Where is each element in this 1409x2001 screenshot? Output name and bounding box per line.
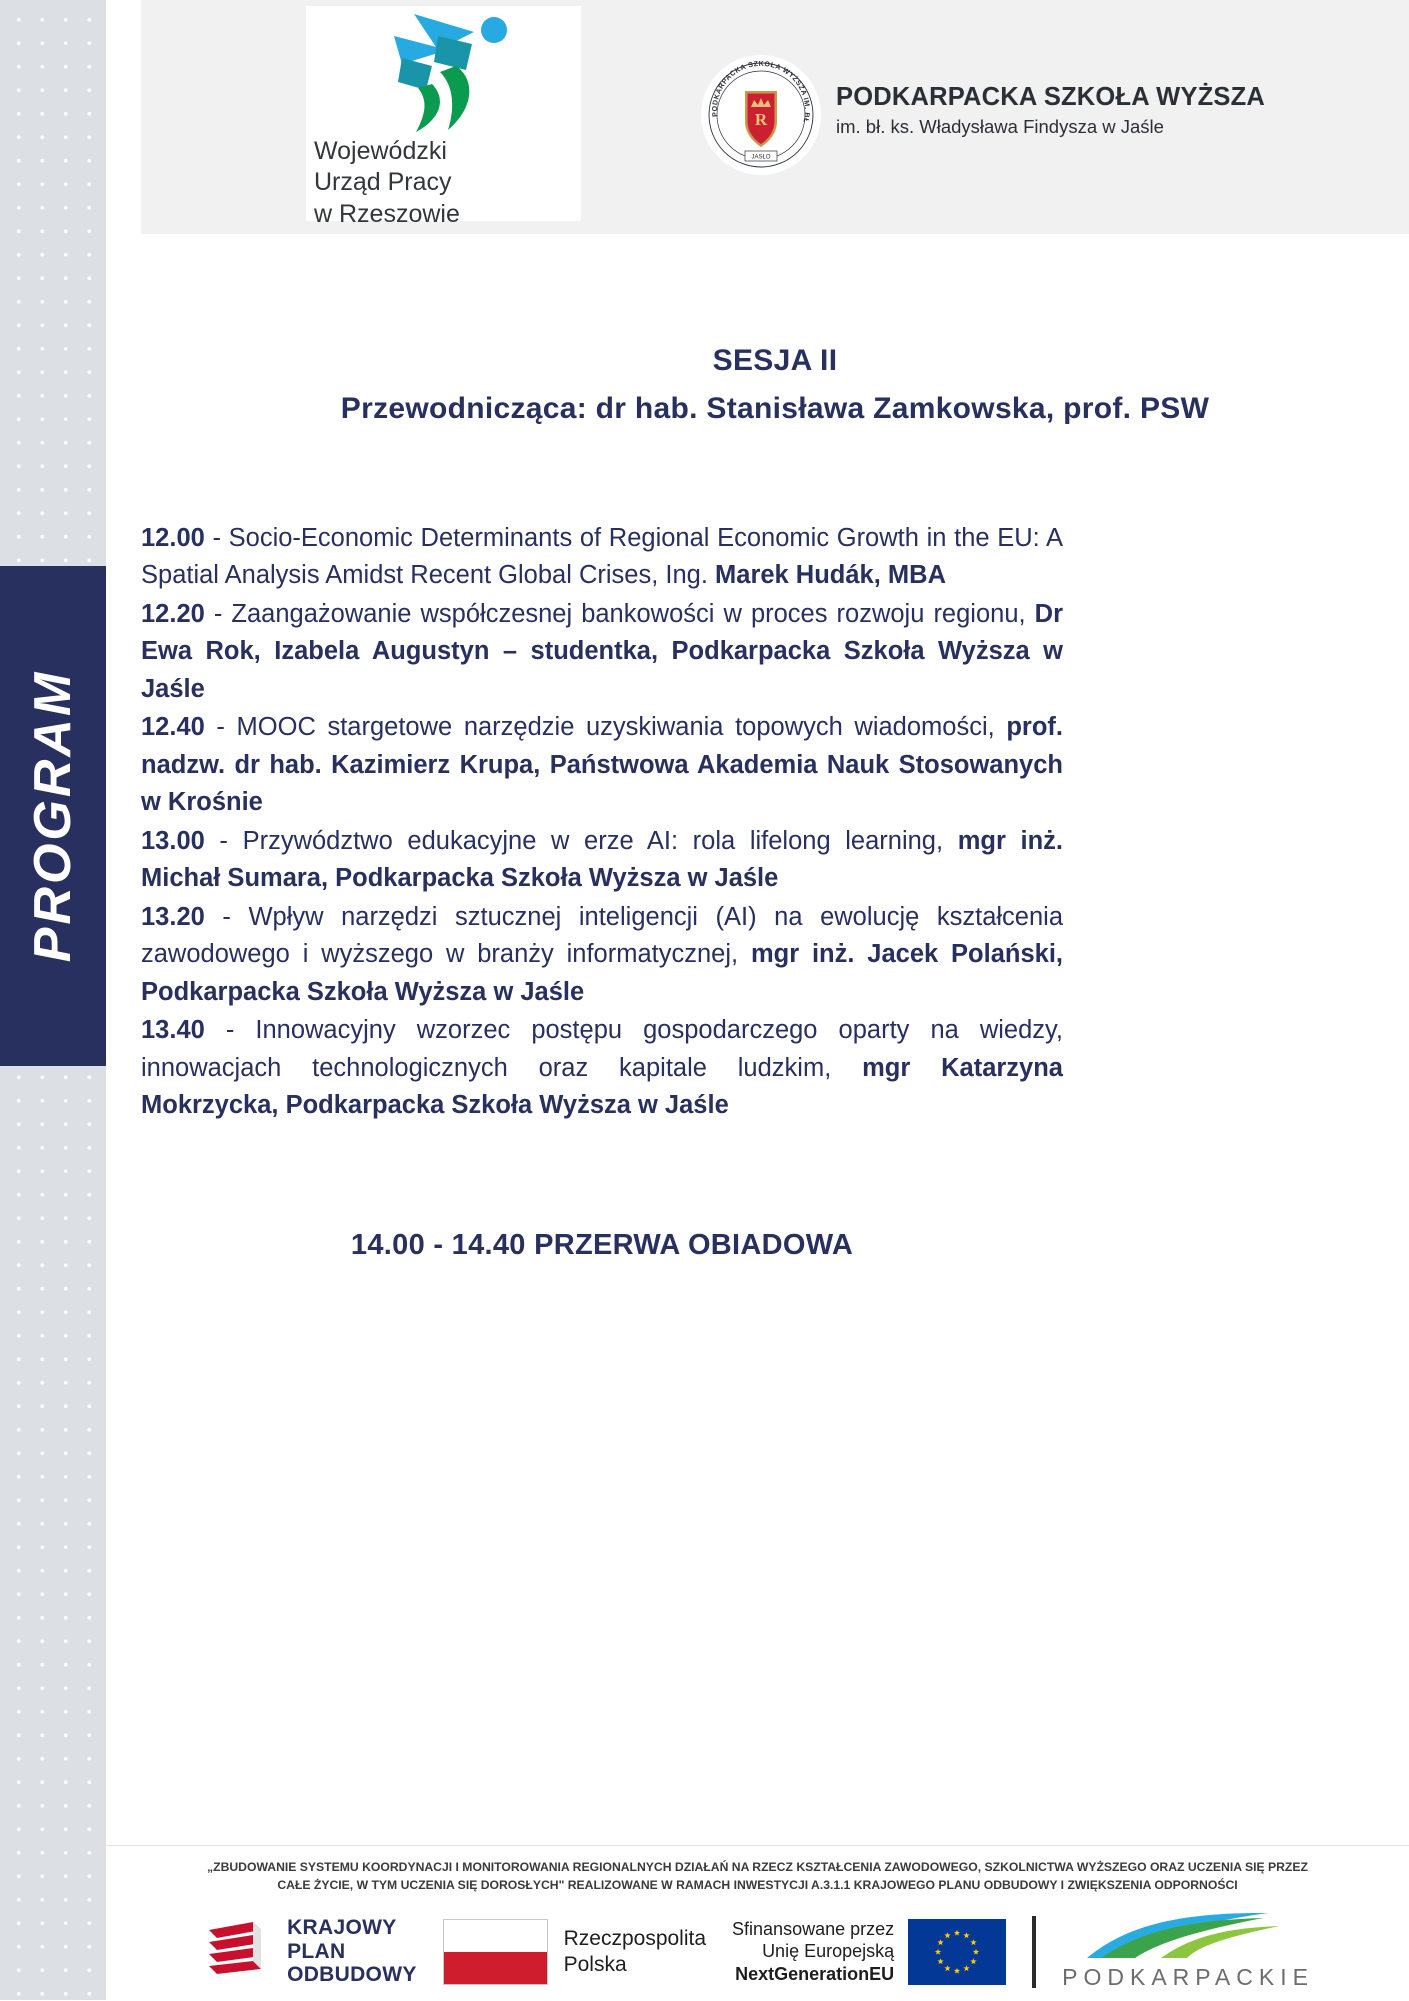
agenda-dash: -	[205, 827, 243, 855]
footer-divider	[1032, 1916, 1036, 1988]
agenda-time: 13.00	[141, 827, 205, 855]
disclaimer-line-1: „ZBUDOWANIE SYSTEMU KOORDYNACJI I MONITO…	[116, 1858, 1399, 1876]
psw-logo-text: PODKARPACKA SZKOŁA WYŻSZA im. bł. ks. Wł…	[836, 83, 1256, 138]
disclaimer-line-2: CAŁE ŻYCIE, W TYM UCZENIA SIĘ DOROSŁYCH"…	[116, 1876, 1399, 1894]
podkarpackie-logo: PODKARPACKIE	[1062, 1912, 1314, 1991]
psw-title: PODKARPACKA SZKOŁA WYŻSZA	[836, 83, 1256, 112]
agenda-entry: 13.20 - Wpływ narzędzi sztucznej intelig…	[141, 899, 1063, 1011]
program-band-label: PROGRAM	[23, 670, 83, 963]
main-content: SESJA II Przewodnicząca: dr hab. Stanisł…	[141, 234, 1409, 1844]
psw-seal-icon: PODKARPACKA SZKOŁA WYŻSZA IM. BŁ. KS. WŁ…	[701, 55, 821, 175]
session-title: SESJA II	[141, 344, 1409, 378]
header-logo-bar: Wojewódzki Urząd Pracy w Rzeszowie PODKA…	[141, 0, 1409, 234]
agenda-dash: -	[205, 903, 249, 931]
wup-emblem-icon	[306, 6, 581, 136]
wup-logo-text: Wojewódzki Urząd Pracy w Rzeszowie	[314, 136, 581, 230]
podkarpackie-label: PODKARPACKIE	[1062, 1964, 1314, 1991]
kpo-line-2: PLAN	[287, 1940, 417, 1964]
agenda-entry: 12.40 - MOOC stargetowe narzędzie uzyski…	[141, 709, 1063, 821]
agenda-list: 12.00 - Socio-Economic Determinants of R…	[141, 520, 1063, 1126]
krajowy-plan-odbudowy-logo: KRAJOWY PLAN ODBUDOWY	[201, 1916, 417, 1988]
eu-line-3: NextGenerationEU	[732, 1963, 894, 1986]
agenda-speaker: Marek Hudák, MBA	[715, 561, 946, 589]
kpo-emblem-icon	[201, 1916, 273, 1988]
footer-disclaimer: „ZBUDOWANIE SYSTEMU KOORDYNACJI I MONITO…	[106, 1858, 1409, 1895]
agenda-time: 12.40	[141, 713, 205, 741]
agenda-entry: 12.20 - Zaangażowanie współczesnej banko…	[141, 596, 1063, 708]
agenda-time: 13.20	[141, 903, 205, 931]
agenda-time: 12.20	[141, 600, 205, 628]
agenda-entry: 12.00 - Socio-Economic Determinants of R…	[141, 520, 1063, 595]
agenda-topic: Zaangażowanie współczesnej bankowości w …	[231, 600, 1034, 628]
agenda-entry: 13.00 - Przywództwo edukacyjne w erze AI…	[141, 823, 1063, 898]
eu-text: Sfinansowane przez Unię Europejską NextG…	[732, 1918, 894, 1986]
podkarpackie-emblem-icon	[1083, 1912, 1293, 1962]
eu-line-2: Unię Europejską	[732, 1940, 894, 1963]
kpo-line-1: KRAJOWY	[287, 1916, 417, 1940]
rp-text: Rzeczpospolita Polska	[564, 1926, 706, 1976]
psw-logo-group: PODKARPACKA SZKOŁA WYŻSZA IM. BŁ. KS. WŁ…	[701, 55, 1261, 175]
psw-subtitle: im. bł. ks. Władysława Findysza w Jaśle	[836, 116, 1256, 138]
agenda-dash: -	[205, 713, 237, 741]
kpo-text: KRAJOWY PLAN ODBUDOWY	[287, 1916, 417, 1987]
session-chair: Przewodnicząca: dr hab. Stanisława Zamko…	[141, 392, 1409, 426]
wup-line-2: Urząd Pracy	[314, 167, 581, 198]
wup-line-3: w Rzeszowie	[314, 199, 581, 230]
wup-line-1: Wojewódzki	[314, 136, 581, 167]
agenda-dash: -	[205, 524, 229, 552]
seal-city-label: JASŁO	[751, 155, 770, 161]
eu-line-1: Sfinansowane przez	[732, 1918, 894, 1941]
footer: „ZBUDOWANIE SYSTEMU KOORDYNACJI I MONITO…	[106, 1845, 1409, 2001]
european-union-funding-logo: Sfinansowane przez Unię Europejską NextG…	[732, 1918, 1006, 1986]
agenda-time: 12.00	[141, 524, 205, 552]
footer-logo-row: KRAJOWY PLAN ODBUDOWY Rzeczpospolita Pol…	[106, 1904, 1409, 1999]
agenda-topic: MOOC stargetowe narzędzie uzyskiwania to…	[237, 713, 1007, 741]
eu-flag-icon	[908, 1919, 1006, 1985]
rzeczpospolita-polska-logo: Rzeczpospolita Polska	[443, 1919, 706, 1985]
agenda-topic: Przywództwo edukacyjne w erze AI: rola l…	[243, 827, 958, 855]
session-heading: SESJA II Przewodnicząca: dr hab. Stanisł…	[141, 344, 1409, 426]
polish-flag-icon	[443, 1919, 548, 1985]
agenda-dash: -	[205, 600, 232, 628]
program-vertical-band: PROGRAM	[0, 566, 106, 1066]
agenda-dash: -	[205, 1016, 256, 1044]
wojewodzki-urzad-pracy-logo: Wojewódzki Urząd Pracy w Rzeszowie	[306, 6, 581, 221]
rp-line-1: Rzeczpospolita	[564, 1926, 706, 1951]
rp-line-2: Polska	[564, 1952, 706, 1977]
agenda-entry: 13.40 - Innowacyjny wzorzec postępu gosp…	[141, 1012, 1063, 1124]
svg-text:R: R	[755, 110, 768, 129]
lunch-break-note: 14.00 - 14.40 PRZERWA OBIADOWA	[141, 1229, 1063, 1262]
kpo-line-3: ODBUDOWY	[287, 1963, 417, 1987]
agenda-time: 13.40	[141, 1016, 205, 1044]
